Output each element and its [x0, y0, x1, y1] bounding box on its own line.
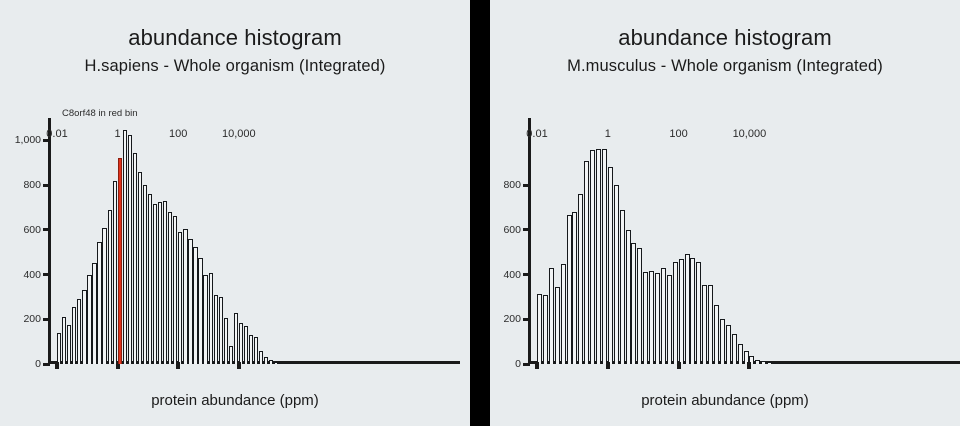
histogram-bar — [690, 258, 695, 364]
histogram-bar — [572, 212, 577, 364]
histogram-bar — [631, 243, 636, 364]
histogram-bars-hsapiens — [48, 118, 460, 364]
histogram-bar — [555, 287, 560, 364]
x-axis-tick — [677, 362, 681, 369]
x-axis-tick-label: 1 — [115, 128, 121, 140]
histogram-bar — [102, 228, 106, 364]
chart-title-mmusculus: abundance histogram — [490, 25, 960, 51]
histogram-bar — [148, 194, 152, 364]
histogram-bar — [726, 325, 731, 364]
histogram-bar — [738, 344, 743, 364]
y-axis-tick — [523, 363, 530, 366]
histogram-bar — [649, 271, 654, 364]
histogram-bar — [274, 362, 278, 364]
histogram-bar — [158, 202, 162, 364]
y-axis-tick-label: 200 — [23, 313, 41, 325]
histogram-bar — [614, 185, 619, 364]
histogram-bar — [143, 185, 147, 364]
y-axis-tick-label: 600 — [23, 224, 41, 236]
histogram-bar — [239, 323, 243, 364]
histogram-bar — [720, 319, 725, 364]
histogram-bar — [87, 275, 91, 364]
y-axis-tick — [523, 273, 530, 276]
histogram-bar — [702, 285, 707, 364]
x-axis-tick — [237, 362, 241, 369]
histogram-bar — [168, 212, 172, 364]
histogram-bar — [578, 194, 583, 364]
histogram-bar — [97, 242, 101, 364]
histogram-bar — [214, 295, 218, 364]
plot-mmusculus: 02004006008000.01110010,000 — [528, 118, 948, 364]
histogram-bar — [655, 273, 660, 364]
y-axis-tick — [523, 184, 530, 187]
x-axis-tick-label: 100 — [669, 128, 687, 140]
histogram-bar — [198, 258, 202, 364]
panel-mmusculus: abundance histogram M.musculus - Whole o… — [490, 0, 960, 426]
histogram-bar — [254, 337, 258, 364]
histogram-bar — [620, 210, 625, 364]
histogram-bar — [173, 216, 177, 364]
histogram-bar — [224, 318, 228, 364]
histogram-bar — [289, 363, 293, 365]
histogram-bar — [584, 161, 589, 365]
x-axis-tick — [176, 362, 180, 369]
histogram-bar — [755, 360, 760, 364]
histogram-bar — [264, 357, 268, 364]
slide-canvas: abundance histogram H.sapiens - Whole or… — [0, 0, 960, 426]
histogram-bar — [57, 333, 61, 364]
y-axis-tick — [523, 228, 530, 231]
histogram-bar — [696, 262, 701, 364]
histogram-bar — [77, 299, 81, 364]
y-axis-tick-label: 400 — [23, 269, 41, 281]
x-axis-tick-label: 10,000 — [222, 128, 256, 140]
histogram-bar — [708, 285, 713, 364]
x-axis-label-mmusculus: protein abundance (ppm) — [490, 392, 960, 409]
histogram-bar — [108, 210, 112, 364]
histogram-bar — [133, 153, 137, 364]
histogram-bar — [163, 201, 167, 364]
histogram-bar — [661, 268, 666, 364]
histogram-bar — [602, 149, 607, 364]
histogram-bar — [294, 363, 298, 365]
histogram-bar — [773, 363, 778, 365]
histogram-bar — [643, 272, 648, 364]
x-axis-tick — [606, 362, 610, 369]
histogram-bar — [667, 275, 672, 364]
y-axis-tick-label: 800 — [23, 179, 41, 191]
histogram-bar — [537, 294, 542, 364]
histogram-bar — [72, 307, 76, 364]
chart-title-hsapiens: abundance histogram — [0, 25, 470, 51]
histogram-bar — [234, 313, 238, 364]
histogram-bar — [549, 268, 554, 364]
histogram-bar — [543, 295, 548, 364]
histogram-bars-mmusculus — [528, 118, 948, 364]
y-axis-tick-label: 400 — [503, 269, 521, 281]
histogram-bar — [92, 263, 96, 364]
histogram-bar — [178, 232, 182, 364]
x-axis-tick-label: 1 — [605, 128, 611, 140]
y-axis-tick-label: 0 — [35, 358, 41, 370]
histogram-bar — [113, 181, 117, 364]
y-axis-tick — [43, 363, 50, 366]
y-axis-tick-label: 200 — [503, 313, 521, 325]
plot-area-mmusculus: 02004006008000.01110010,000 — [528, 118, 948, 364]
histogram-bar — [249, 335, 253, 364]
histogram-bar — [279, 363, 283, 365]
histogram-bar — [123, 130, 127, 364]
histogram-bar — [785, 363, 790, 365]
x-axis-tick-label: 100 — [169, 128, 187, 140]
x-axis-tick — [747, 362, 751, 369]
x-axis-tick-label: 0.01 — [46, 128, 67, 140]
histogram-bar — [183, 229, 187, 364]
y-axis-tick — [43, 273, 50, 276]
panel-divider — [470, 0, 490, 426]
histogram-bar — [62, 317, 66, 364]
histogram-bar — [714, 305, 719, 364]
histogram-bar — [138, 172, 142, 364]
panel-hsapiens: abundance histogram H.sapiens - Whole or… — [0, 0, 470, 426]
histogram-bar — [685, 254, 690, 364]
histogram-bar — [244, 326, 248, 364]
x-axis-tick — [55, 362, 59, 369]
histogram-bar — [626, 230, 631, 364]
histogram-bar — [761, 361, 766, 364]
histogram-bar — [596, 149, 601, 364]
histogram-bar — [561, 264, 566, 364]
histogram-bar — [732, 334, 737, 364]
x-axis-tick-label: 0.01 — [526, 128, 547, 140]
x-axis-tick-label: 10,000 — [733, 128, 767, 140]
y-axis-tick — [523, 318, 530, 321]
plot-area-hsapiens: 02004006008001,0000.01110010,000 — [48, 118, 460, 364]
histogram-bar — [219, 297, 223, 364]
y-axis-tick-label: 600 — [503, 224, 521, 236]
x-axis-label-hsapiens: protein abundance (ppm) — [0, 392, 470, 409]
histogram-bar — [791, 363, 796, 365]
y-axis-tick-label: 0 — [515, 358, 521, 370]
histogram-bar — [269, 360, 273, 364]
histogram-bar — [229, 346, 233, 364]
histogram-bar — [153, 204, 157, 364]
histogram-bar — [673, 262, 678, 364]
histogram-bar — [209, 273, 213, 364]
histogram-bar — [567, 215, 572, 364]
histogram-bar — [67, 325, 71, 364]
histogram-bar — [637, 248, 642, 364]
histogram-bar — [188, 239, 192, 364]
histogram-bar — [203, 275, 207, 364]
histogram-bar — [193, 247, 197, 364]
histogram-bar-highlighted — [118, 158, 122, 364]
y-axis-tick-label: 800 — [503, 179, 521, 191]
histogram-bar — [679, 259, 684, 364]
y-axis-tick — [43, 318, 50, 321]
histogram-bar — [590, 150, 595, 364]
histogram-bar — [608, 167, 613, 364]
x-axis-tick — [535, 362, 539, 369]
plot-hsapiens: 02004006008001,0000.01110010,000 — [48, 118, 460, 364]
histogram-bar — [259, 351, 263, 364]
histogram-bar — [779, 363, 784, 365]
y-axis-tick-label: 1,000 — [15, 134, 41, 146]
chart-subtitle-mmusculus: M.musculus - Whole organism (Integrated) — [490, 57, 960, 76]
y-axis-tick — [43, 228, 50, 231]
histogram-bar — [82, 290, 86, 364]
histogram-bar — [767, 362, 772, 364]
histogram-bar — [128, 135, 132, 364]
chart-subtitle-hsapiens: H.sapiens - Whole organism (Integrated) — [0, 57, 470, 76]
histogram-bar — [284, 363, 288, 365]
y-axis-tick — [43, 184, 50, 187]
